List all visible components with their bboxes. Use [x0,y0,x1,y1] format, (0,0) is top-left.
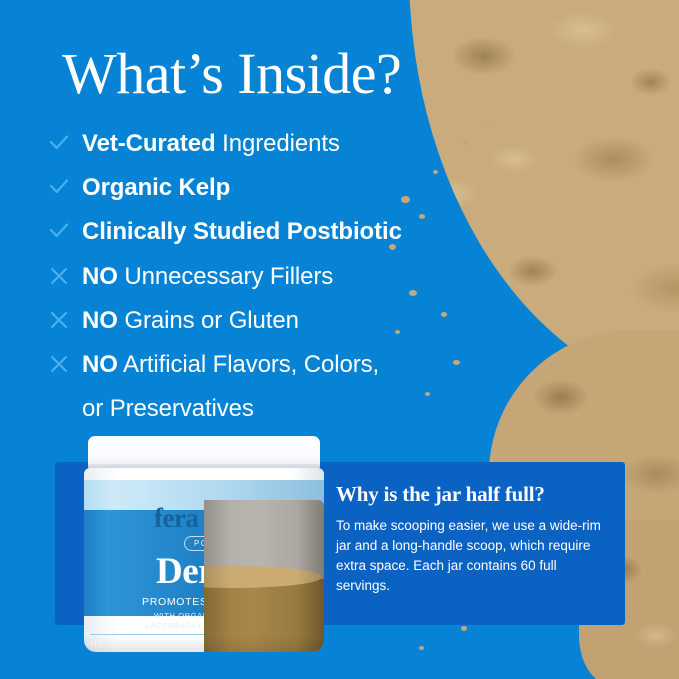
jar-bottom-shadow [84,636,324,652]
list-item: Clinically Studied Postbiotic [48,216,468,247]
cross-icon [48,349,82,375]
check-icon [48,172,82,198]
jar-lid [88,436,320,470]
list-item-text: NO Unnecessary Fillers [82,261,333,292]
info-card-title: Why is the jar half full? [336,482,604,507]
product-jar-image: fera p POWD Der PROMOTES HEALTH WITH ORG… [84,436,324,652]
list-item-continuation: or Preservatives [48,393,468,424]
list-item-emphasis: Vet-Curated [82,130,216,157]
list-item: NO Grains or Gluten [48,305,468,336]
list-item-rest: Unnecessary Fillers [118,263,333,290]
list-item: Vet-Curated Ingredients [48,128,468,159]
list-item-text: NO Grains or Gluten [82,305,299,336]
list-item-text: NO Artificial Flavors, Colors, [82,349,379,380]
list-item-text: Organic Kelp [82,172,230,203]
list-item: NO Unnecessary Fillers [48,261,468,292]
cross-icon [48,305,82,331]
powder-crumb [419,646,424,650]
list-item-emphasis: Organic Kelp [82,174,230,201]
list-item-text: Clinically Studied Postbiotic [82,216,402,247]
list-item-rest: Artificial Flavors, Colors, [118,351,379,378]
list-item-text: Vet-Curated Ingredients [82,128,340,159]
jar-cutaway [204,500,324,652]
jar-body: fera p POWD Der PROMOTES HEALTH WITH ORG… [84,468,324,652]
list-item: Organic Kelp [48,172,468,203]
page-title: What’s Inside? [62,44,401,105]
info-card-text: Why is the jar half full? To make scoopi… [336,482,604,595]
powder-crumb [485,120,490,124]
list-item-emphasis: NO [82,263,118,290]
list-item-emphasis: Clinically Studied Postbiotic [82,218,402,245]
check-icon [48,128,82,154]
powder-crumb [461,626,467,631]
feature-list: Vet-Curated Ingredients Organic Kelp Cli… [48,128,468,424]
list-item: NO Artificial Flavors, Colors, [48,349,468,380]
list-item-emphasis: NO [82,351,118,378]
info-card-body: To make scooping easier, we use a wide-r… [336,516,604,595]
list-item-rest: Grains or Gluten [118,307,299,334]
marketing-image: What’s Inside? Vet-Curated Ingredients O… [0,0,679,679]
cross-icon [48,261,82,287]
check-icon [48,216,82,242]
list-item-emphasis: NO [82,307,118,334]
list-item-rest: Ingredients [216,130,340,157]
jar-inner-shadow [204,500,324,652]
